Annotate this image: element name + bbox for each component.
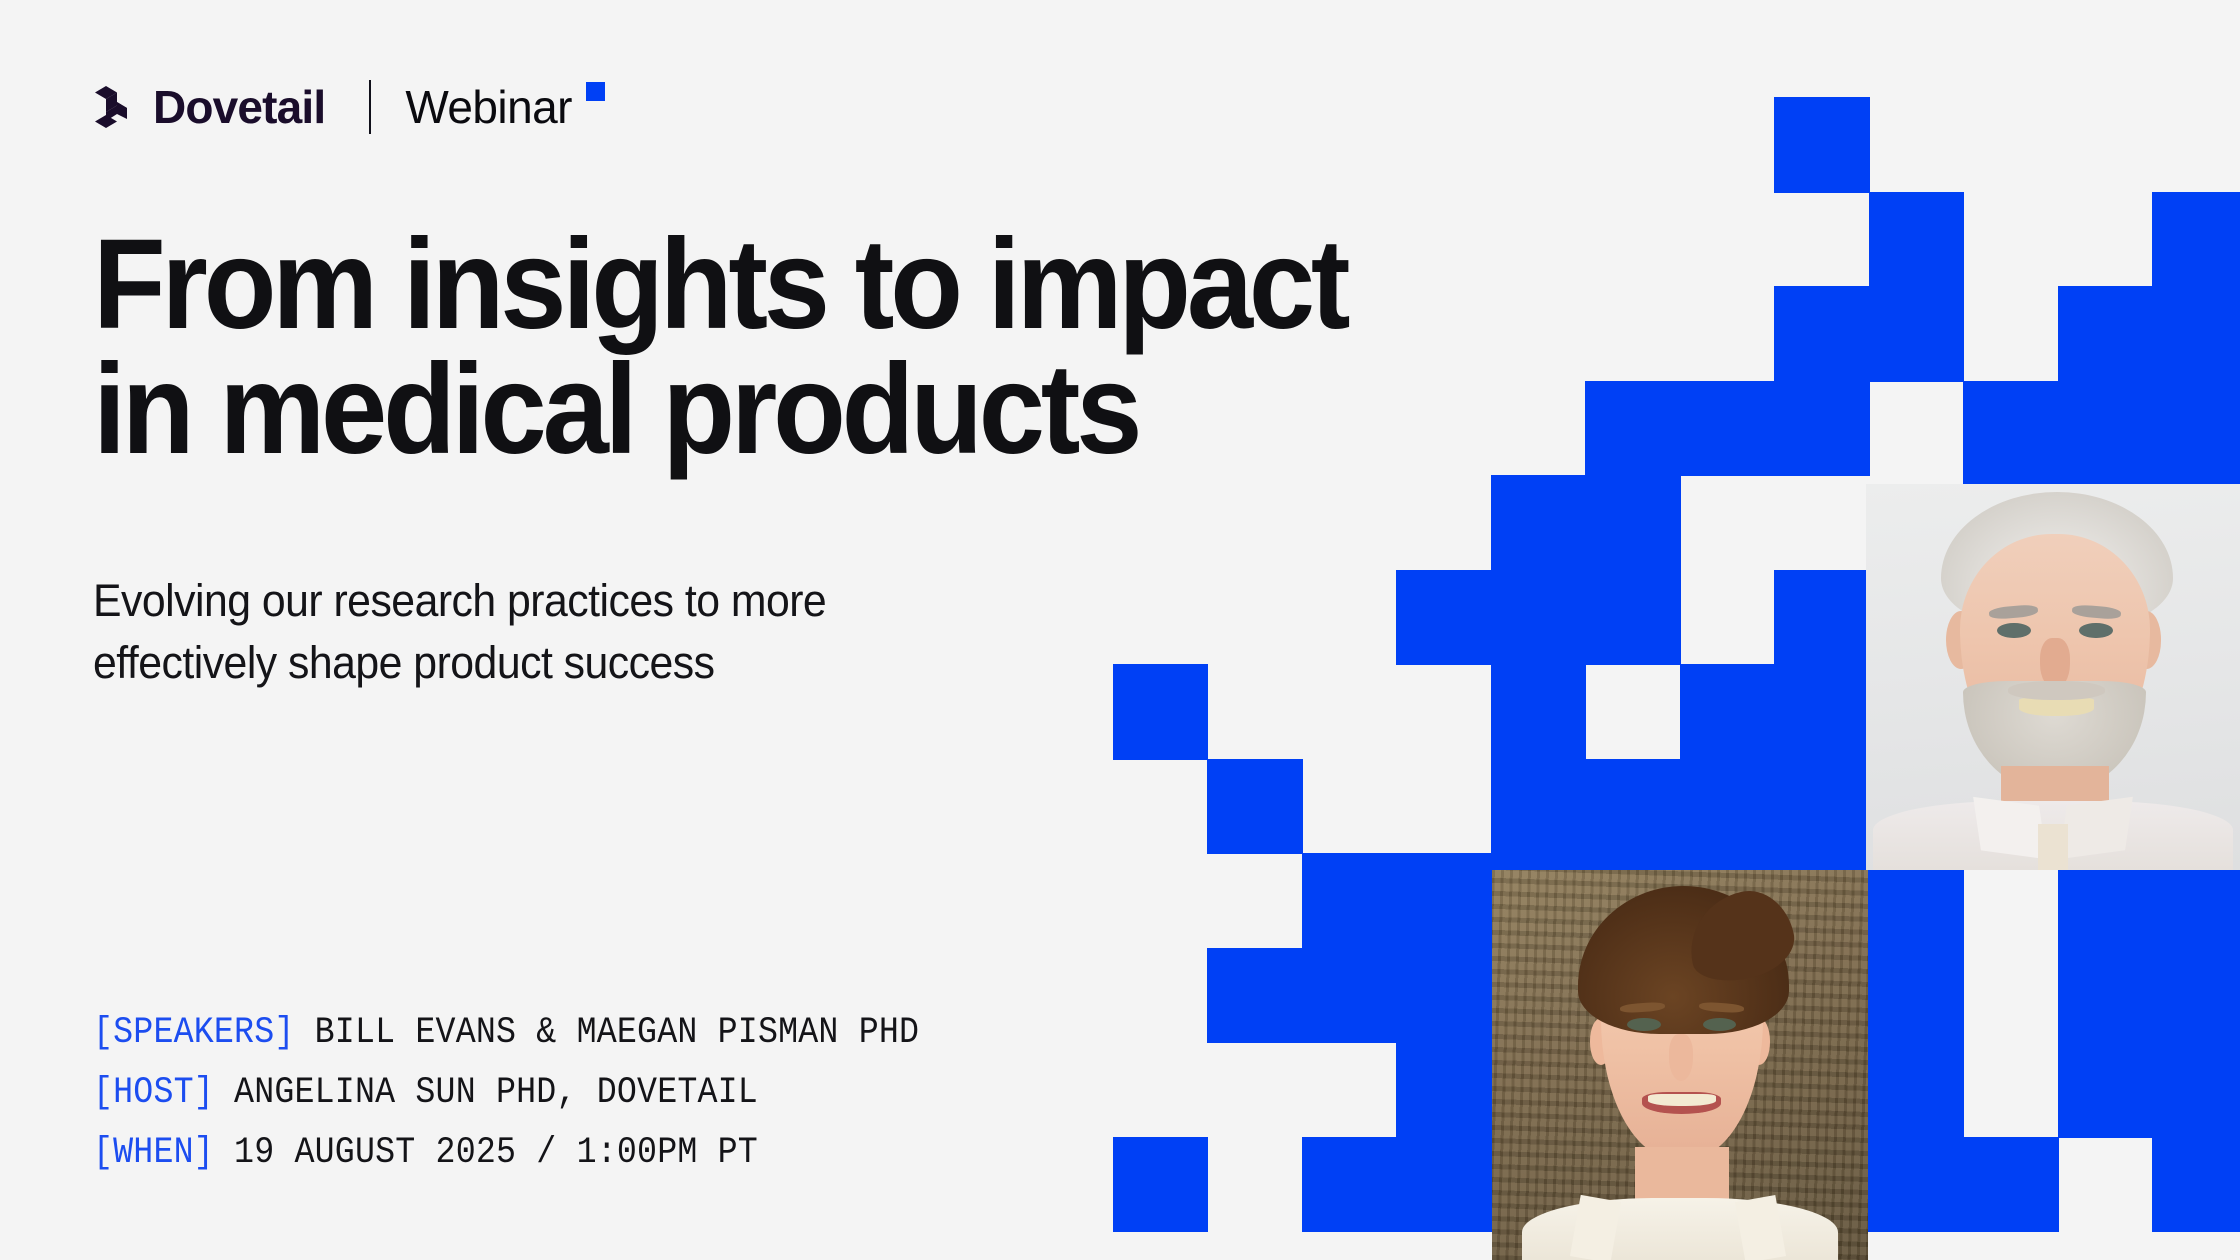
credit-value-when: 19 AUGUST 2025 / 1:00PM PT bbox=[234, 1132, 758, 1174]
grid-cell bbox=[2058, 948, 2154, 1044]
credit-tag-when: [WHEN] bbox=[93, 1132, 214, 1174]
event-credits: [SPEAKERS] BILL EVANS & MAEGAN PISMAN PH… bbox=[93, 1004, 919, 1184]
credit-tag-host: [HOST] bbox=[93, 1072, 214, 1114]
grid-cell bbox=[2152, 381, 2240, 477]
speaker-photo-bill-evans bbox=[1866, 484, 2240, 870]
teeth bbox=[1648, 1094, 1716, 1106]
grid-cell bbox=[1396, 1137, 1492, 1233]
credit-row-when: [WHEN] 19 AUGUST 2025 / 1:00PM PT bbox=[93, 1124, 919, 1184]
content-kind-label: Webinar bbox=[405, 84, 572, 130]
grid-cell bbox=[1774, 570, 1870, 666]
brand-wordmark: Dovetail bbox=[153, 84, 325, 130]
webinar-promo-banner: Dovetail Webinar From insights to impact… bbox=[0, 0, 2240, 1260]
grid-cell bbox=[1491, 759, 1587, 855]
grid-cell bbox=[1869, 948, 1965, 1044]
grid-cell bbox=[1585, 475, 1681, 571]
collar-left bbox=[1973, 796, 2046, 858]
grid-cell bbox=[2152, 286, 2240, 382]
grid-cell bbox=[2152, 1042, 2240, 1138]
credit-value-speakers: BILL EVANS & MAEGAN PISMAN PHD bbox=[315, 1012, 920, 1054]
headline-line-1: From insights to impact bbox=[93, 222, 1581, 347]
nose bbox=[1669, 1034, 1693, 1081]
grid-cell bbox=[1774, 97, 1870, 193]
grid-cell bbox=[1869, 1137, 1965, 1233]
blue-square-accent-icon bbox=[586, 82, 605, 101]
collar-right bbox=[2059, 796, 2132, 858]
grid-cell bbox=[1302, 1137, 1398, 1233]
grid-cell bbox=[2058, 381, 2154, 477]
subtitle-line-2: effectively shape product success bbox=[93, 632, 1072, 694]
grid-cell bbox=[1869, 192, 1965, 288]
page-subtitle: Evolving our research practices to more … bbox=[93, 570, 1072, 694]
grid-cell bbox=[1680, 381, 1776, 477]
speaker-photo-maegan-pisman bbox=[1492, 870, 1868, 1260]
grid-cell bbox=[1774, 759, 1870, 855]
grid-cell bbox=[1396, 570, 1492, 666]
credit-row-speakers: [SPEAKERS] BILL EVANS & MAEGAN PISMAN PH… bbox=[93, 1004, 919, 1064]
brand-header: Dovetail Webinar bbox=[93, 76, 605, 138]
mustache bbox=[2008, 681, 2105, 700]
grid-cell bbox=[1491, 664, 1587, 760]
grid-cell bbox=[1585, 759, 1681, 855]
grid-cell bbox=[1396, 853, 1492, 949]
grid-cell bbox=[1774, 286, 1870, 382]
subtitle-line-1: Evolving our research practices to more bbox=[93, 570, 1072, 632]
grid-cell bbox=[1585, 570, 1681, 666]
grid-cell bbox=[2152, 192, 2240, 288]
grid-cell bbox=[1774, 381, 1870, 477]
header-divider bbox=[369, 80, 371, 134]
grid-cell bbox=[2058, 1042, 2154, 1138]
grid-cell bbox=[1207, 759, 1303, 855]
grid-cell bbox=[1869, 1042, 1965, 1138]
shirt-placket bbox=[2038, 824, 2068, 870]
mouth bbox=[2019, 698, 2094, 715]
eye-left bbox=[1997, 623, 2031, 638]
grid-cell bbox=[1869, 286, 1965, 382]
credit-value-host: ANGELINA SUN PHD, DOVETAIL bbox=[234, 1072, 758, 1114]
grid-cell bbox=[1113, 664, 1209, 760]
grid-cell bbox=[1491, 475, 1587, 571]
credit-tag-speakers: [SPEAKERS] bbox=[93, 1012, 295, 1054]
grid-cell bbox=[1302, 853, 1398, 949]
grid-cell bbox=[2058, 286, 2154, 382]
grid-cell bbox=[1774, 664, 1870, 760]
grid-cell bbox=[2152, 1137, 2240, 1233]
grid-cell bbox=[1585, 381, 1681, 477]
grid-cell bbox=[1491, 570, 1587, 666]
grid-cell bbox=[2152, 948, 2240, 1044]
grid-cell bbox=[1396, 1042, 1492, 1138]
credit-row-host: [HOST] ANGELINA SUN PHD, DOVETAIL bbox=[93, 1064, 919, 1124]
tank-top bbox=[1522, 1198, 1838, 1260]
grid-cell bbox=[1680, 759, 1776, 855]
dovetail-logo-mark bbox=[93, 83, 137, 131]
grid-cell bbox=[1680, 664, 1776, 760]
grid-cell bbox=[1207, 948, 1303, 1044]
headline-line-2: in medical products bbox=[93, 347, 1581, 472]
grid-cell bbox=[1396, 948, 1492, 1044]
grid-cell bbox=[1963, 1137, 2059, 1233]
grid-cell bbox=[1113, 1137, 1209, 1233]
grid-cell bbox=[1963, 381, 2059, 477]
grid-cell bbox=[1302, 948, 1398, 1044]
page-title: From insights to impact in medical produ… bbox=[93, 222, 1581, 473]
